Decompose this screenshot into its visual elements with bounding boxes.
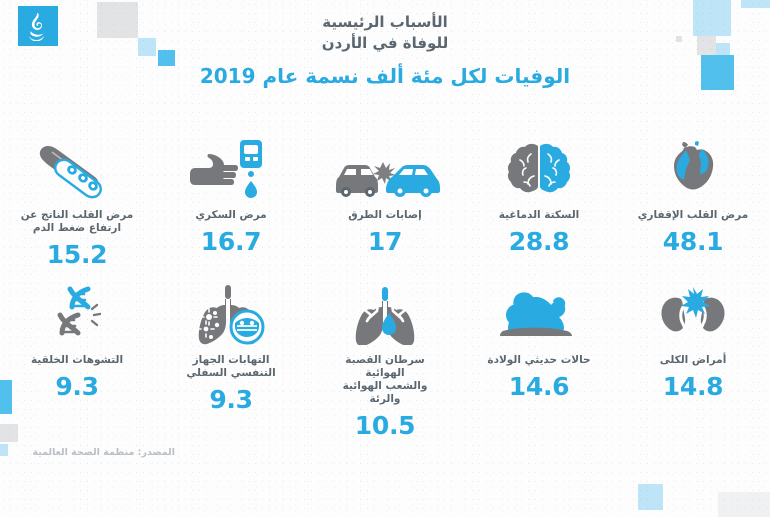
page-title: الأسباب الرئيسية للوفاة في الأردن الوفيا… (0, 12, 770, 88)
title-line-1: الأسباب الرئيسية (0, 12, 770, 33)
stat-value: 14.8 (663, 374, 723, 400)
lungs-cancer-icon (347, 283, 423, 345)
stat-label: مرض السكري (195, 209, 266, 222)
decor-square (638, 484, 663, 510)
lungs-infection-icon (189, 283, 273, 345)
stat-item: سرطان القصبة الهوائية والشعب الهوائية وا… (308, 283, 462, 439)
blood-vessel-icon (36, 138, 118, 200)
stat-label: سرطان القصبة الهوائية والشعب الهوائية وا… (326, 354, 444, 406)
heart-icon (662, 138, 724, 200)
stat-label: السكتة الدماغية (499, 209, 580, 222)
stat-value: 28.8 (509, 229, 569, 255)
stat-label: التهابات الجهاز التنفسي السفلي (186, 354, 275, 380)
stat-value: 9.3 (55, 374, 98, 400)
stats-row-2: أمراض الكلى 14.8 حالات حديثي الولادة 14.… (0, 283, 770, 439)
stat-item: إصابات الطرق 17 (308, 138, 462, 268)
stat-item: حالات حديثي الولادة 14.6 (462, 283, 616, 439)
glucose-meter-icon (188, 138, 274, 200)
stat-value: 10.5 (355, 413, 415, 439)
stat-item: التهابات الجهاز التنفسي السفلي 9.3 (154, 283, 308, 439)
stat-label: مرض القلب الناتج عن ارتفاع ضغط الدم (21, 209, 134, 235)
stat-label: التشوهات الخلقية (31, 354, 123, 367)
stat-item: السكتة الدماغية 28.8 (462, 138, 616, 268)
stat-item: مرض السكري 16.7 (154, 138, 308, 268)
stat-label: أمراض الكلى (660, 354, 727, 367)
subtitle: الوفيات لكل مئة ألف نسمة عام 2019 (0, 64, 770, 88)
stat-value: 14.6 (509, 374, 569, 400)
stat-label: إصابات الطرق (348, 209, 421, 222)
infographic-canvas: الأسباب الرئيسية للوفاة في الأردن الوفيا… (0, 0, 770, 517)
stat-item: مرض القلب الناتج عن ارتفاع ضغط الدم 15.2 (0, 138, 154, 268)
decor-square (718, 492, 770, 517)
stat-value: 17 (368, 229, 402, 255)
dna-helix-icon (44, 283, 110, 345)
title-line-2: للوفاة في الأردن (0, 33, 770, 54)
stat-item: أمراض الكلى 14.8 (616, 283, 770, 439)
decor-square (741, 0, 770, 8)
stat-value: 48.1 (663, 229, 723, 255)
stat-item: مرض القلب الإقفاري 48.1 (616, 138, 770, 268)
stat-label: حالات حديثي الولادة (487, 354, 590, 367)
decor-square (0, 444, 8, 456)
source-note: المصدر: منظمة الصحة العالمية (33, 447, 176, 458)
newborn-baby-icon (493, 283, 585, 345)
car-crash-icon (330, 138, 440, 200)
stat-item: التشوهات الخلقية 9.3 (0, 283, 154, 439)
stat-value: 15.2 (47, 242, 107, 268)
stat-value: 16.7 (201, 229, 261, 255)
stat-value: 9.3 (209, 387, 252, 413)
stat-label: مرض القلب الإقفاري (638, 209, 748, 222)
stats-row-1: مرض القلب الإقفاري 48.1 السكتة الدماغية … (0, 138, 770, 268)
kidneys-icon (657, 283, 729, 345)
brain-icon (504, 138, 574, 200)
